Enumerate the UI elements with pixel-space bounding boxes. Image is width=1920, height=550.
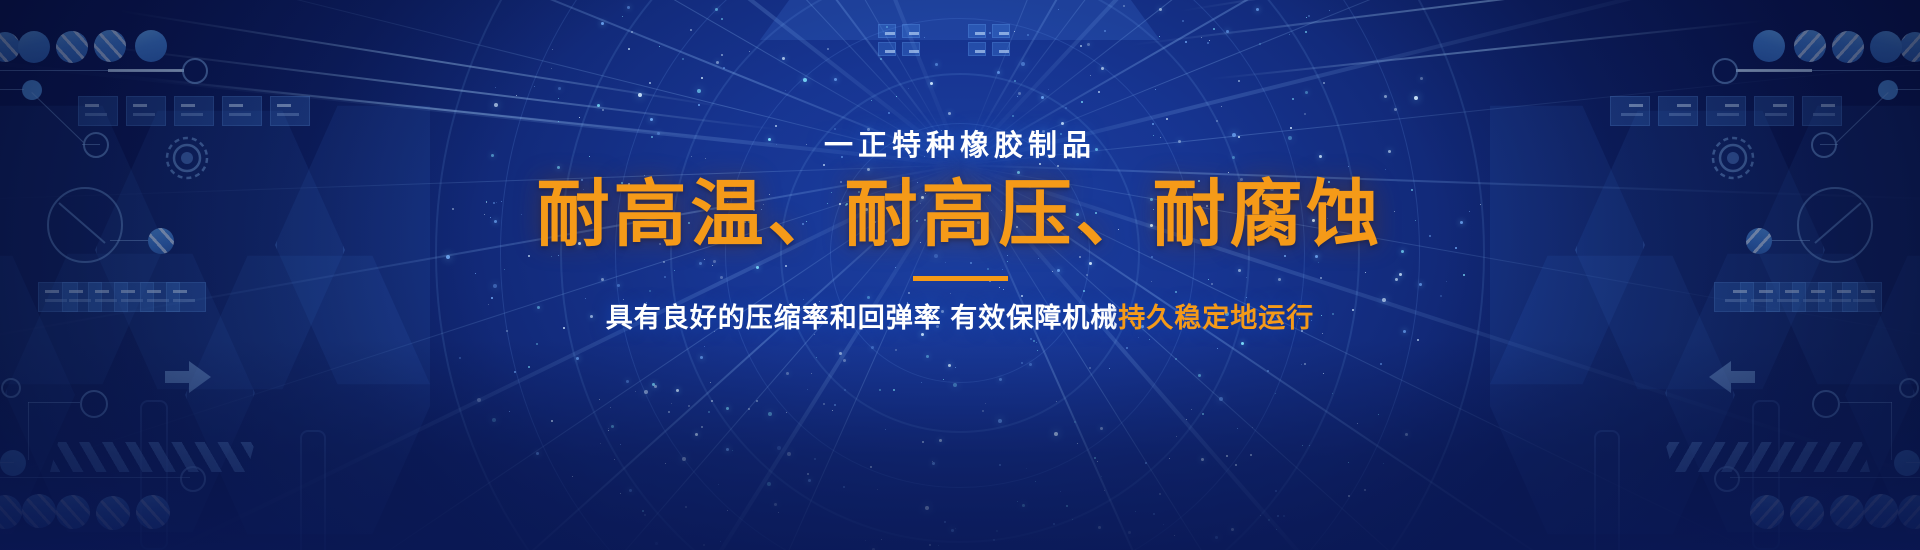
planet-circle <box>135 30 167 62</box>
data-tile <box>126 96 166 126</box>
planet-circle <box>1900 32 1920 62</box>
banner-headline: 耐高温、耐高压、耐腐蚀 <box>0 177 1920 254</box>
top-center-panel <box>760 0 1160 40</box>
data-tile <box>1610 96 1650 126</box>
data-tile <box>1706 96 1746 126</box>
data-tile <box>968 42 986 56</box>
hero-banner: 一正特种橡胶制品 耐高温、耐高压、耐腐蚀 具有良好的压缩率和回弹率 有效保障机械… <box>0 0 1920 550</box>
bottom-fade-overlay <box>0 340 1920 550</box>
hero-text-block: 一正特种橡胶制品 耐高温、耐高压、耐腐蚀 具有良好的压缩率和回弹率 有效保障机械… <box>0 132 1920 332</box>
planet-circle <box>56 31 88 63</box>
banner-subtitle: 具有良好的压缩率和回弹率 有效保障机械持久稳定地运行 <box>0 305 1920 332</box>
data-tile <box>222 96 262 126</box>
circuit-line <box>0 89 24 90</box>
data-tile <box>1802 96 1842 126</box>
circuit-line <box>108 69 184 72</box>
data-tile <box>174 96 214 126</box>
planet-circle <box>1870 31 1902 63</box>
circuit-node <box>22 80 42 100</box>
banner-subtitle-plain: 具有良好的压缩率和回弹率 有效保障机械 <box>606 303 1119 333</box>
data-tile <box>902 24 920 38</box>
planet-circle <box>1832 31 1864 63</box>
planet-circle <box>94 30 126 62</box>
banner-subtitle-highlight: 持久稳定地运行 <box>1118 303 1314 333</box>
planet-circle <box>0 32 20 62</box>
data-tile <box>992 42 1010 56</box>
data-tile <box>968 24 986 38</box>
circuit-line <box>1896 89 1920 90</box>
data-tile <box>992 24 1010 38</box>
planet-circle <box>1794 30 1826 62</box>
data-tile <box>270 96 310 126</box>
ring-node <box>1712 58 1738 84</box>
circuit-line <box>1736 69 1812 72</box>
planet-circle <box>18 31 50 63</box>
data-tile <box>878 24 896 38</box>
data-tile <box>902 42 920 56</box>
data-tile <box>878 42 896 56</box>
data-tile <box>78 96 118 126</box>
banner-eyebrow: 一正特种橡胶制品 <box>0 132 1920 161</box>
planet-circle <box>1753 30 1785 62</box>
orange-divider <box>913 276 1008 281</box>
data-tile <box>1754 96 1794 126</box>
ring-node <box>182 58 208 84</box>
data-tile <box>1658 96 1698 126</box>
